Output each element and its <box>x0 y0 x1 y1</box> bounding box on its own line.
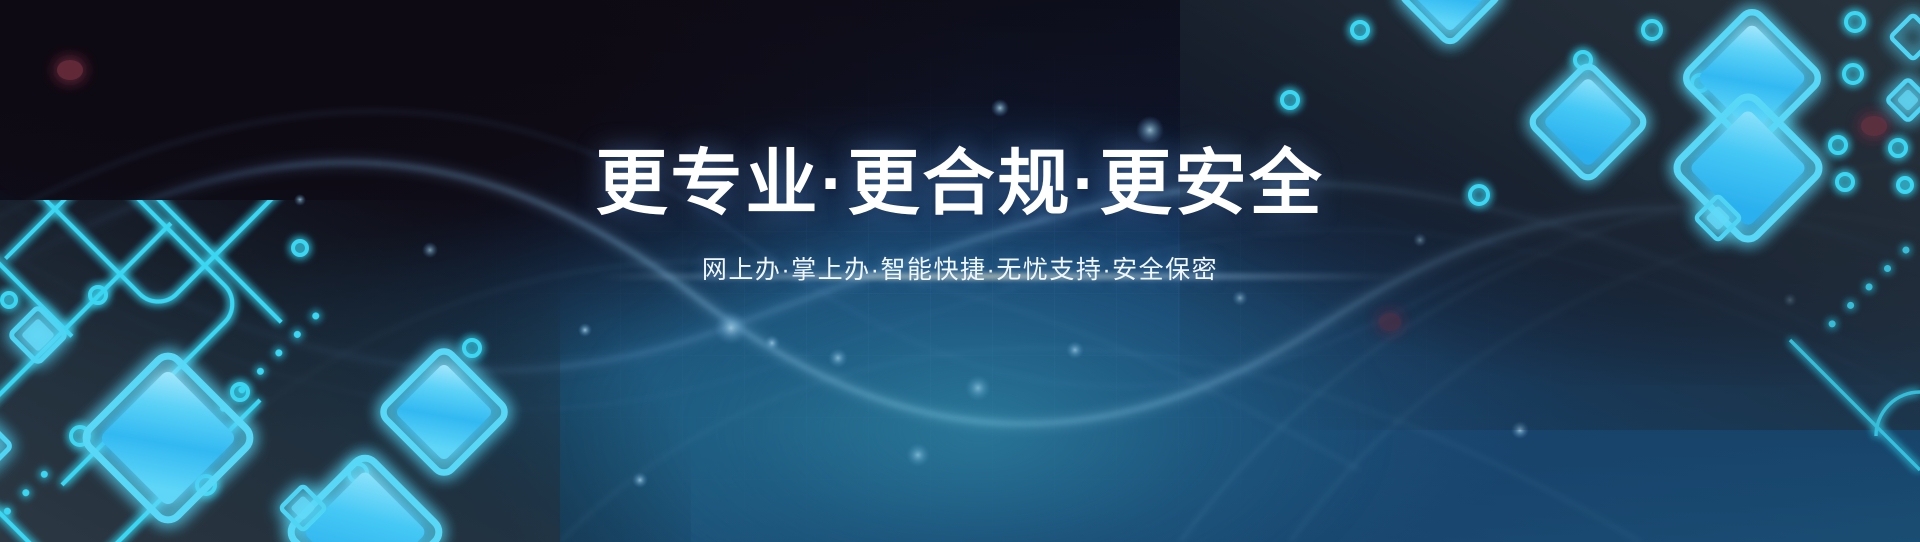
hero-banner: 更专业·更合规·更安全 网上办·掌上办·智能快捷·无忧支持·安全保密 <box>0 0 1920 542</box>
banner-copy: 更专业·更合规·更安全 网上办·掌上办·智能快捷·无忧支持·安全保密 <box>0 146 1920 286</box>
page-subtitle: 网上办·掌上办·智能快捷·无忧支持·安全保密 <box>0 250 1920 286</box>
page-title: 更专业·更合规·更安全 <box>0 146 1920 222</box>
